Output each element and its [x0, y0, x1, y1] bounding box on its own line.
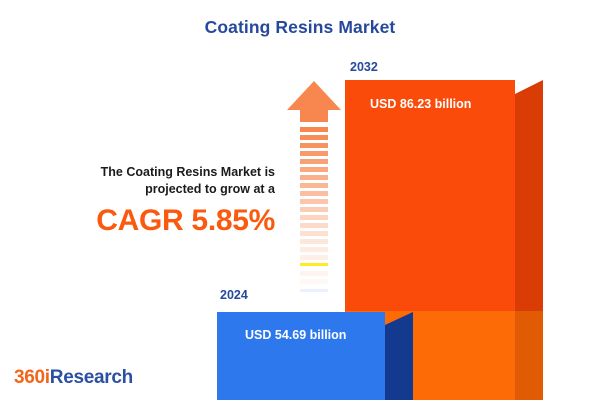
annotation-lead-line-1: The Coating Resins Market is	[101, 165, 275, 179]
logo-text-research: Research	[50, 367, 133, 388]
bar-value-2032: USD 86.23 billion	[370, 97, 471, 111]
bar-2024	[217, 312, 385, 400]
cagr-value: CAGR 5.85%	[55, 204, 275, 237]
bar-2032-side-face-lower	[515, 311, 543, 400]
infographic-canvas: Coating Resins Market	[0, 0, 600, 400]
brand-logo: 360iResearch	[14, 367, 133, 389]
bar-label-2024: 2024	[220, 288, 248, 302]
annotation-lead-text: The Coating Resins Market is projected t…	[55, 164, 275, 198]
bar-value-2024: USD 54.69 billion	[245, 328, 346, 342]
annotation-lead-line-2: projected to grow at a	[145, 182, 275, 196]
annotation-block: The Coating Resins Market is projected t…	[55, 164, 275, 237]
bar-label-2032: 2032	[350, 60, 378, 74]
up-arrow-icon	[286, 79, 342, 301]
page-title: Coating Resins Market	[0, 17, 600, 38]
logo-text-360i: 360i	[14, 367, 50, 388]
bar-2024-side-face	[385, 312, 413, 400]
